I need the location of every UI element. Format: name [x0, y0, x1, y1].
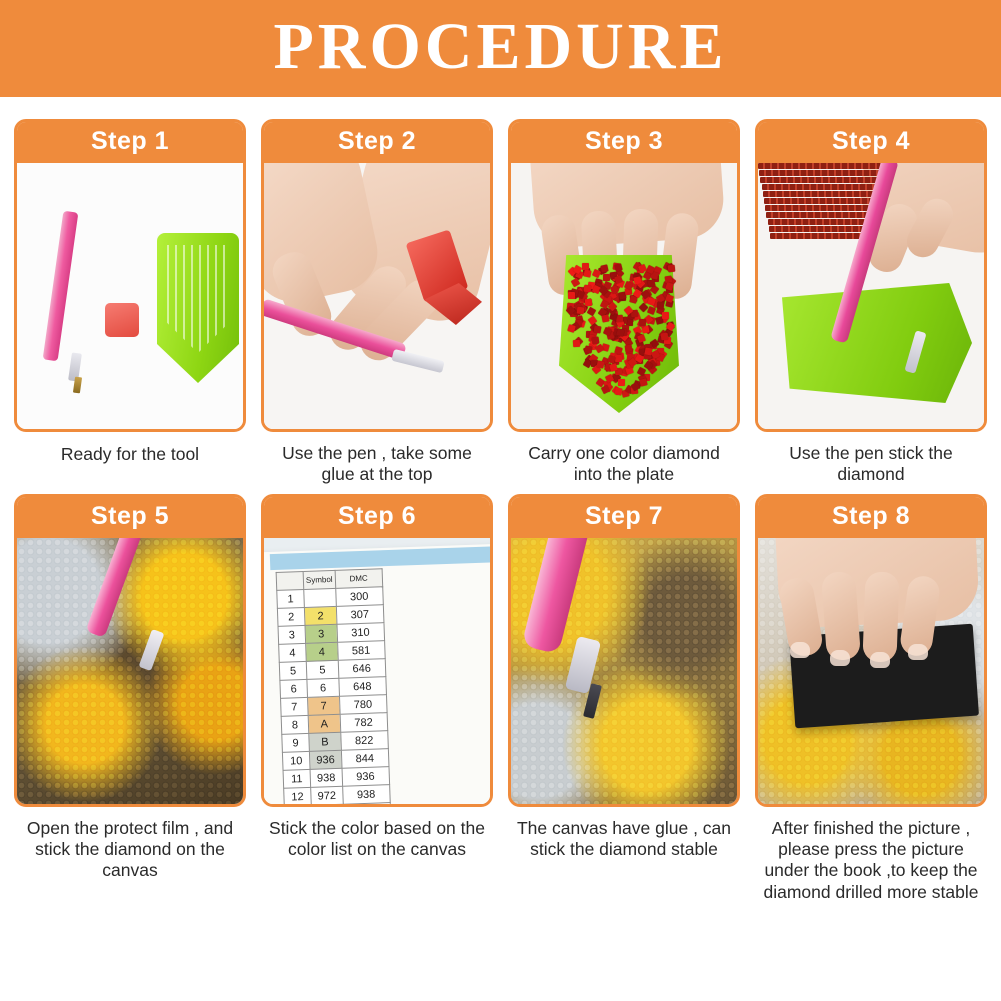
cell-symbol: 6: [307, 678, 339, 697]
step-6-illustration: Symbol DMC 13002230733310445815564666648…: [264, 538, 490, 804]
cell-index: 9: [282, 733, 310, 752]
diamond-row: [769, 226, 871, 232]
page-title: PROCEDURE: [273, 14, 727, 84]
finger-icon: [862, 571, 899, 662]
diamond-row: [763, 191, 885, 197]
fingernail-icon: [908, 644, 928, 660]
diamond-row: [762, 184, 888, 190]
step-card-7: Step 7 The canvas have glue , can stick …: [508, 494, 740, 903]
step-2-card-frame: Step 2: [261, 119, 493, 432]
cell-symbol: 938: [310, 768, 342, 787]
cell-index: 5: [279, 661, 307, 680]
cell-dmc: 936: [342, 766, 390, 786]
cell-index: 1: [277, 589, 305, 608]
cell-dmc: 780: [339, 694, 387, 714]
step-7-caption: The canvas have glue , can stick the dia…: [508, 818, 740, 861]
cell-symbol: A: [308, 714, 340, 733]
step-3-caption: Carry one color diamond into the plate: [508, 443, 740, 486]
finger-icon: [821, 571, 861, 661]
fingernail-icon: [870, 652, 890, 668]
step-1-card-frame: Step 1: [14, 119, 246, 432]
table-row: 12972938: [284, 784, 390, 803]
cell-index: 6: [280, 679, 308, 698]
diamond-row: [768, 219, 874, 225]
fingernail-icon: [790, 642, 810, 658]
step-card-4: Step 4 Use the pen stick the diamond: [755, 119, 987, 486]
diamond-row: [758, 163, 896, 169]
step-4-caption: Use the pen stick the diamond: [755, 443, 987, 486]
cell-index: 2: [277, 607, 305, 626]
step-7-heading: Step 7: [511, 497, 737, 538]
diamond-row: [760, 177, 890, 183]
cell-index: 8: [281, 715, 309, 734]
steps-grid: Step 1 Ready for the tool Step 2: [0, 97, 1001, 903]
col-index: [276, 571, 304, 590]
cell-index: 10: [282, 751, 310, 770]
step-card-5: Step 5 Open the protect film , and stick…: [14, 494, 246, 903]
step-8-heading: Step 8: [758, 497, 984, 538]
step-1-caption: Ready for the tool: [57, 443, 203, 466]
diamond-row: [766, 212, 876, 218]
step-4-illustration: [758, 163, 984, 429]
cell-dmc: 581: [337, 640, 385, 660]
step-card-6: Step 6 Symbol DMC 1300223073331044581556…: [261, 494, 493, 903]
cell-symbol: 936: [309, 750, 341, 769]
cell-dmc: 844: [341, 748, 389, 768]
step-7-illustration: [511, 538, 737, 804]
color-list-table: Symbol DMC 13002230733310445815564666648…: [276, 568, 391, 804]
red-glue-clay-icon: [105, 303, 139, 337]
cell-symbol: 5: [306, 660, 338, 679]
step-2-illustration: [264, 163, 490, 429]
step-8-card-frame: Step 8: [755, 494, 987, 807]
step-6-card-frame: Step 6 Symbol DMC 1300223073331044581556…: [261, 494, 493, 807]
cell-dmc: 310: [337, 622, 385, 642]
cell-symbol: 2: [304, 606, 336, 625]
green-tray-icon: [782, 283, 972, 403]
step-4-heading: Step 4: [758, 122, 984, 163]
step-card-1: Step 1 Ready for the tool: [14, 119, 246, 486]
cell-index: 3: [278, 625, 306, 644]
color-list-table-body: 13002230733310445815564666648777808A7829…: [277, 586, 391, 803]
cell-dmc: 307: [336, 604, 384, 624]
step-6-caption: Stick the color based on the color list …: [261, 818, 493, 861]
step-8-caption: After finished the picture , please pres…: [755, 818, 987, 903]
step-2-caption: Use the pen , take some glue at the top: [261, 443, 493, 486]
diamond-row: [764, 198, 882, 204]
cell-index: 12: [284, 787, 312, 804]
diamond-texture: [17, 538, 243, 804]
step-6-heading: Step 6: [264, 497, 490, 538]
diamond-row: [770, 233, 868, 239]
cell-index: 4: [279, 643, 307, 662]
cell-dmc: 300: [335, 586, 383, 606]
cell-dmc: 938: [342, 784, 390, 803]
step-8-illustration: [758, 538, 984, 804]
cell-symbol: [304, 588, 336, 607]
step-3-heading: Step 3: [511, 122, 737, 163]
step-3-illustration: [511, 163, 737, 429]
cell-dmc: 648: [339, 676, 387, 696]
step-7-card-frame: Step 7: [508, 494, 740, 807]
cell-symbol: B: [309, 732, 341, 751]
step-5-heading: Step 5: [17, 497, 243, 538]
step-5-card-frame: Step 5: [14, 494, 246, 807]
red-diamonds-cluster: [511, 163, 737, 429]
step-3-card-frame: Step 3: [508, 119, 740, 432]
cell-index: 11: [283, 769, 311, 788]
cell-symbol: 3: [305, 624, 337, 643]
col-dmc: DMC: [335, 568, 383, 588]
col-symbol: Symbol: [303, 570, 335, 589]
cell-dmc: 782: [340, 712, 388, 732]
diamond-row: [765, 205, 879, 211]
cell-dmc: 646: [338, 658, 386, 678]
cell-dmc: 822: [340, 730, 388, 750]
step-card-3: Step 3 Carry one color diamond into the …: [508, 119, 740, 486]
step-card-2: Step 2 Use the pen , take some glue at t…: [261, 119, 493, 486]
fingernail-icon: [830, 650, 850, 666]
step-4-card-frame: Step 4: [755, 119, 987, 432]
diamond-row: [759, 170, 893, 176]
cell-symbol: 972: [311, 786, 343, 804]
cell-index: 7: [281, 697, 309, 716]
cell-symbol: 4: [306, 642, 338, 661]
step-1-illustration: [17, 163, 243, 429]
step-card-8: Step 8 After finished the picture , plea…: [755, 494, 987, 903]
step-5-caption: Open the protect film , and stick the di…: [14, 818, 246, 882]
cell-symbol: 7: [308, 696, 340, 715]
step-5-illustration: [17, 538, 243, 804]
step-1-heading: Step 1: [17, 122, 243, 163]
step-2-heading: Step 2: [264, 122, 490, 163]
page-banner: PROCEDURE: [0, 0, 1001, 97]
